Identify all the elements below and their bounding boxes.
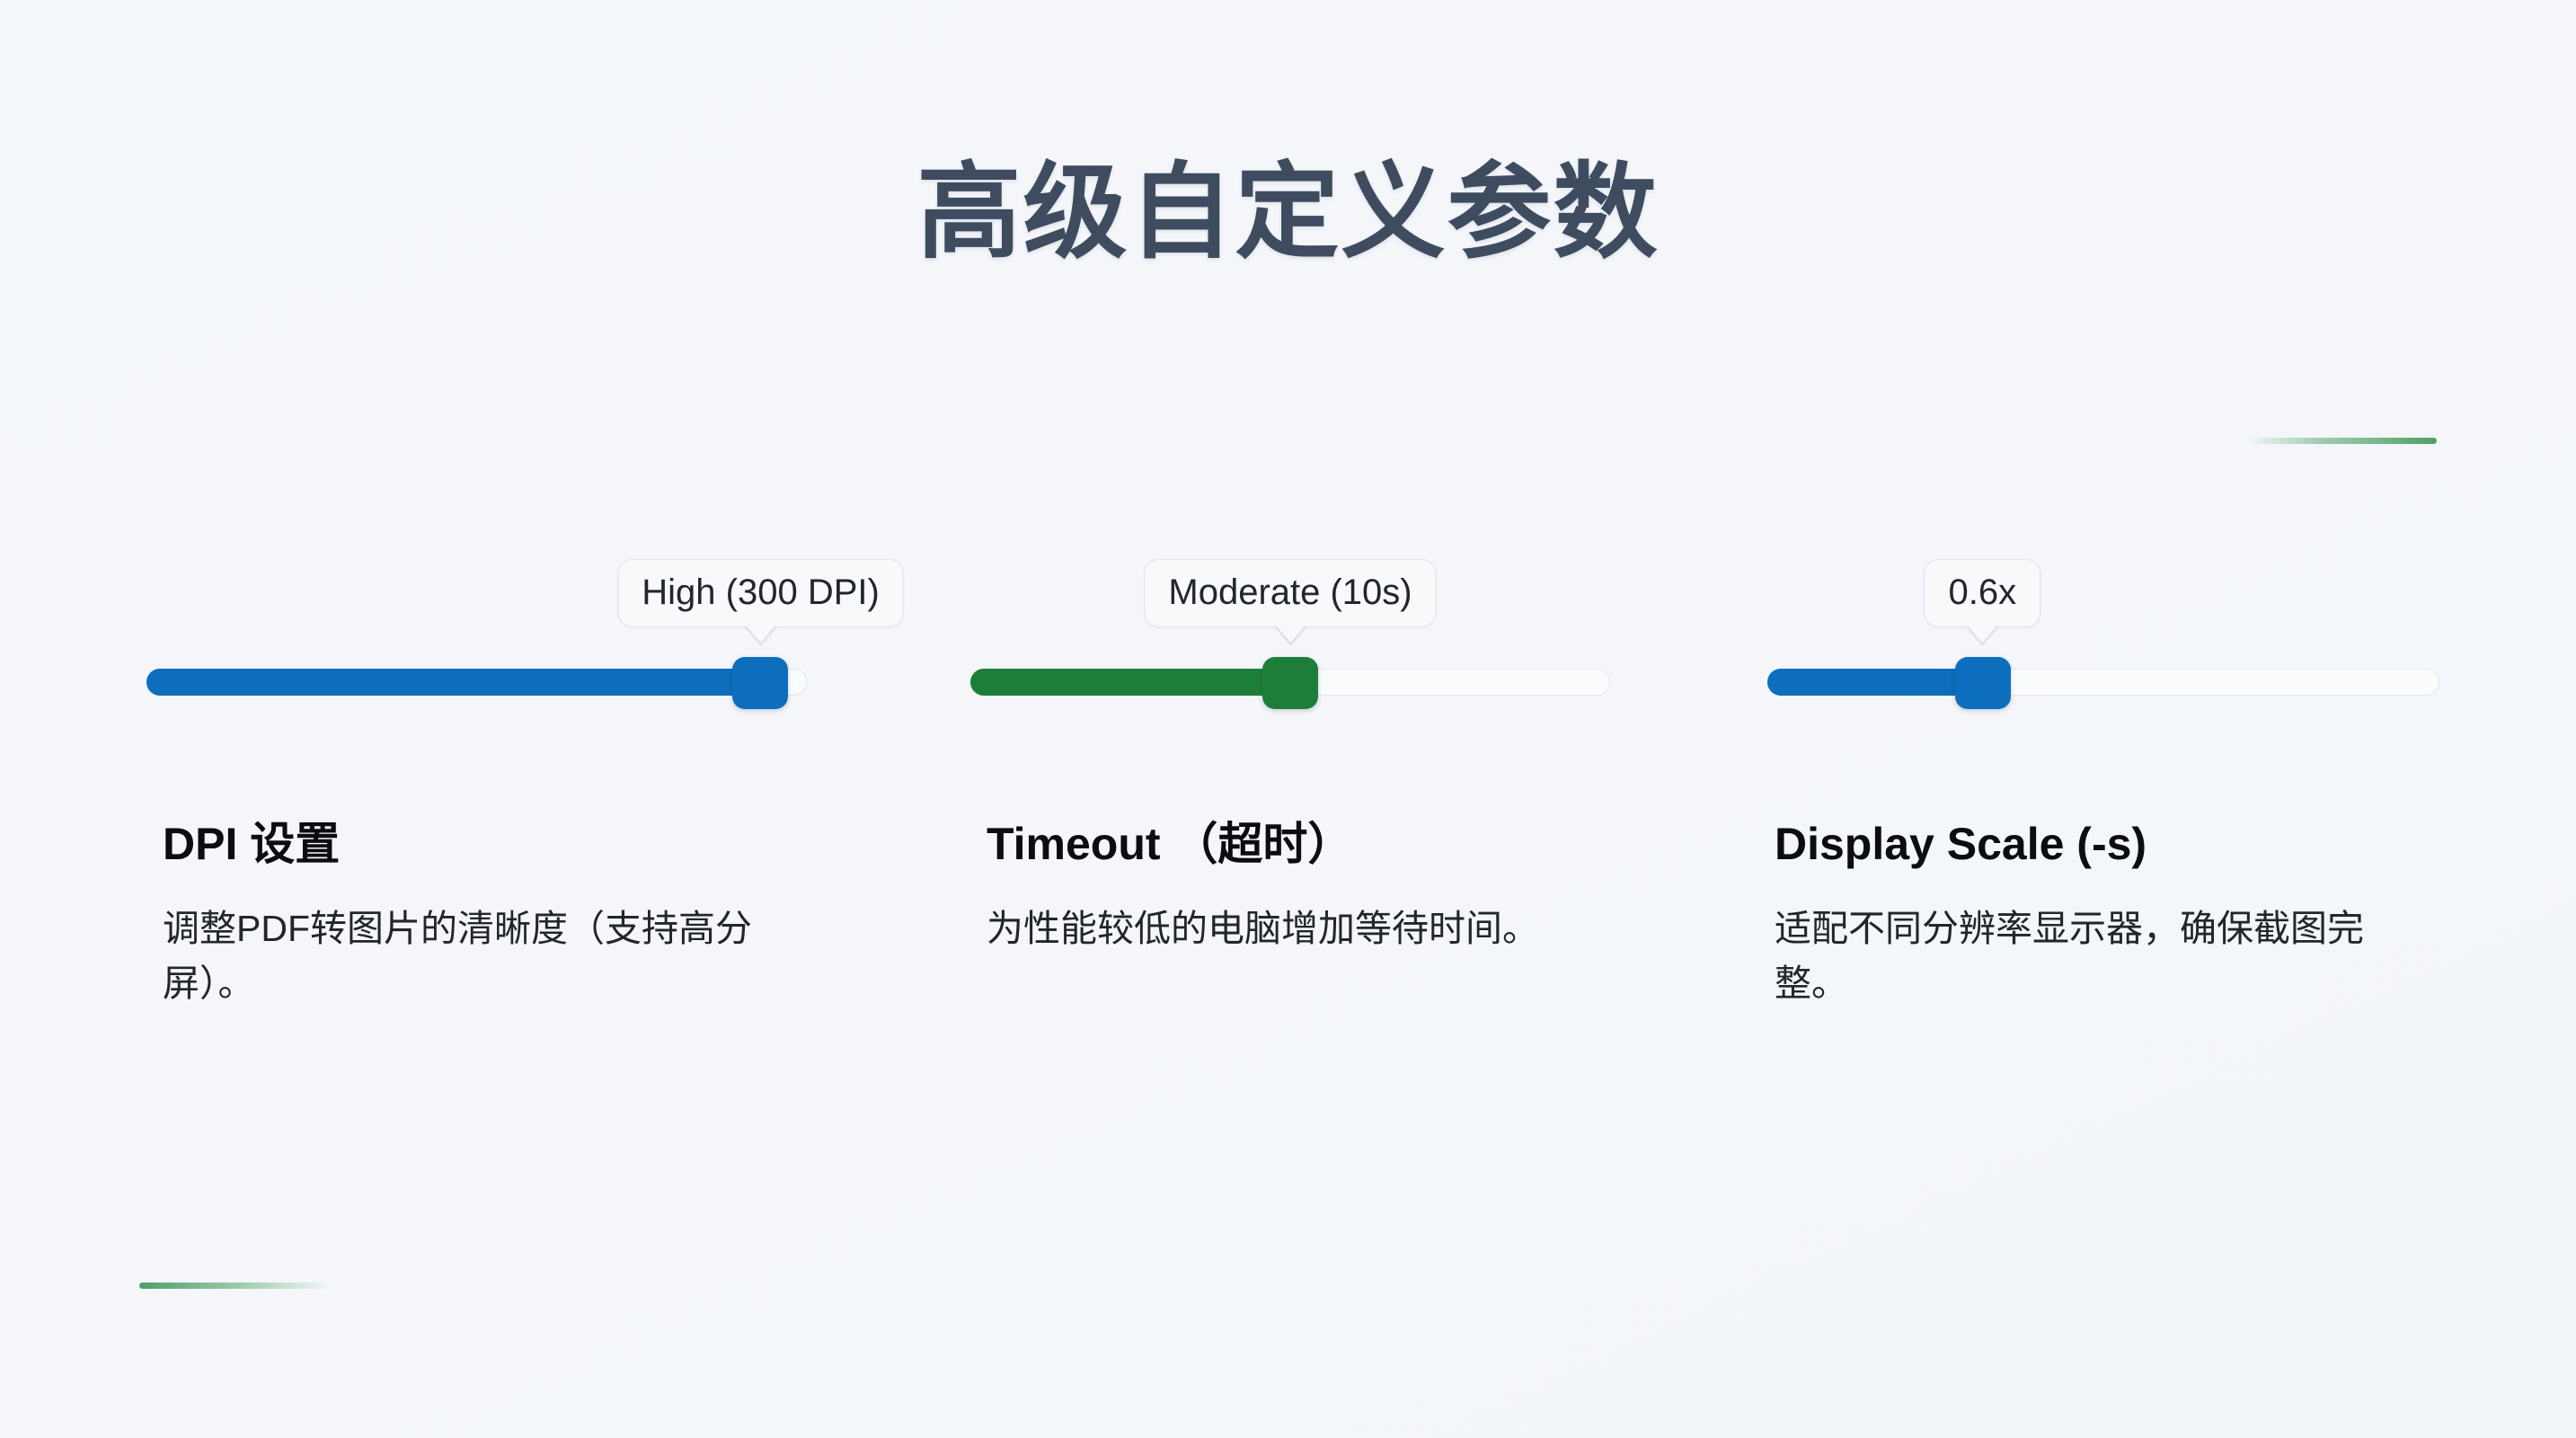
top-right-accent-line (2246, 438, 2437, 444)
timeout-slider-thumb[interactable] (1262, 657, 1318, 709)
parameter-card-timeout: Moderate (10s) Timeout （超时） 为性能较低的电脑增加等待… (970, 539, 1610, 1114)
display-scale-slider-value-tooltip: 0.6x (1925, 559, 2041, 627)
dpi-caption: DPI 设置 调整PDF转图片的清晰度（支持高分屏）。 (163, 818, 807, 1010)
display-scale-slider-track[interactable] (1767, 669, 2439, 696)
dpi-slider-track[interactable] (146, 669, 807, 696)
dpi-caption-title: DPI 设置 (163, 818, 807, 871)
timeout-slider-value-tooltip: Moderate (10s) (1144, 559, 1436, 627)
timeout-slider-fill (970, 669, 1292, 696)
display-scale-caption: Display Scale (-s) 适配不同分辨率显示器，确保截图完整。 (1775, 818, 2439, 1010)
dpi-slider[interactable]: High (300 DPI) (146, 539, 807, 683)
dpi-slider-fill (146, 669, 762, 696)
parameter-columns: High (300 DPI) DPI 设置 调整PDF转图片的清晰度（支持高分屏… (0, 539, 2576, 1114)
timeout-caption-title: Timeout （超时） (987, 818, 1610, 871)
page-title: 高级自定义参数 (0, 155, 2576, 271)
timeout-slider[interactable]: Moderate (10s) (970, 539, 1610, 683)
timeout-caption-description: 为性能较低的电脑增加等待时间。 (987, 901, 1566, 956)
dpi-slider-value-tooltip: High (300 DPI) (617, 559, 904, 627)
dpi-slider-thumb[interactable] (732, 657, 788, 709)
timeout-slider-track[interactable] (970, 669, 1610, 696)
parameter-card-display-scale: 0.6x Display Scale (-s) 适配不同分辨率显示器，确保截图完… (1767, 539, 2439, 1114)
display-scale-slider-fill (1767, 669, 1985, 696)
dpi-caption-description: 调整PDF转图片的清晰度（支持高分屏）。 (163, 901, 792, 1010)
timeout-caption: Timeout （超时） 为性能较低的电脑增加等待时间。 (987, 818, 1610, 956)
display-scale-slider[interactable]: 0.6x (1767, 539, 2439, 683)
display-scale-caption-title: Display Scale (-s) (1775, 818, 2439, 871)
parameter-card-dpi: High (300 DPI) DPI 设置 调整PDF转图片的清晰度（支持高分屏… (146, 539, 807, 1114)
bottom-left-accent-line (139, 1283, 330, 1289)
display-scale-slider-thumb[interactable] (1955, 657, 2011, 709)
display-scale-caption-description: 适配不同分辨率显示器，确保截图完整。 (1775, 901, 2395, 1010)
